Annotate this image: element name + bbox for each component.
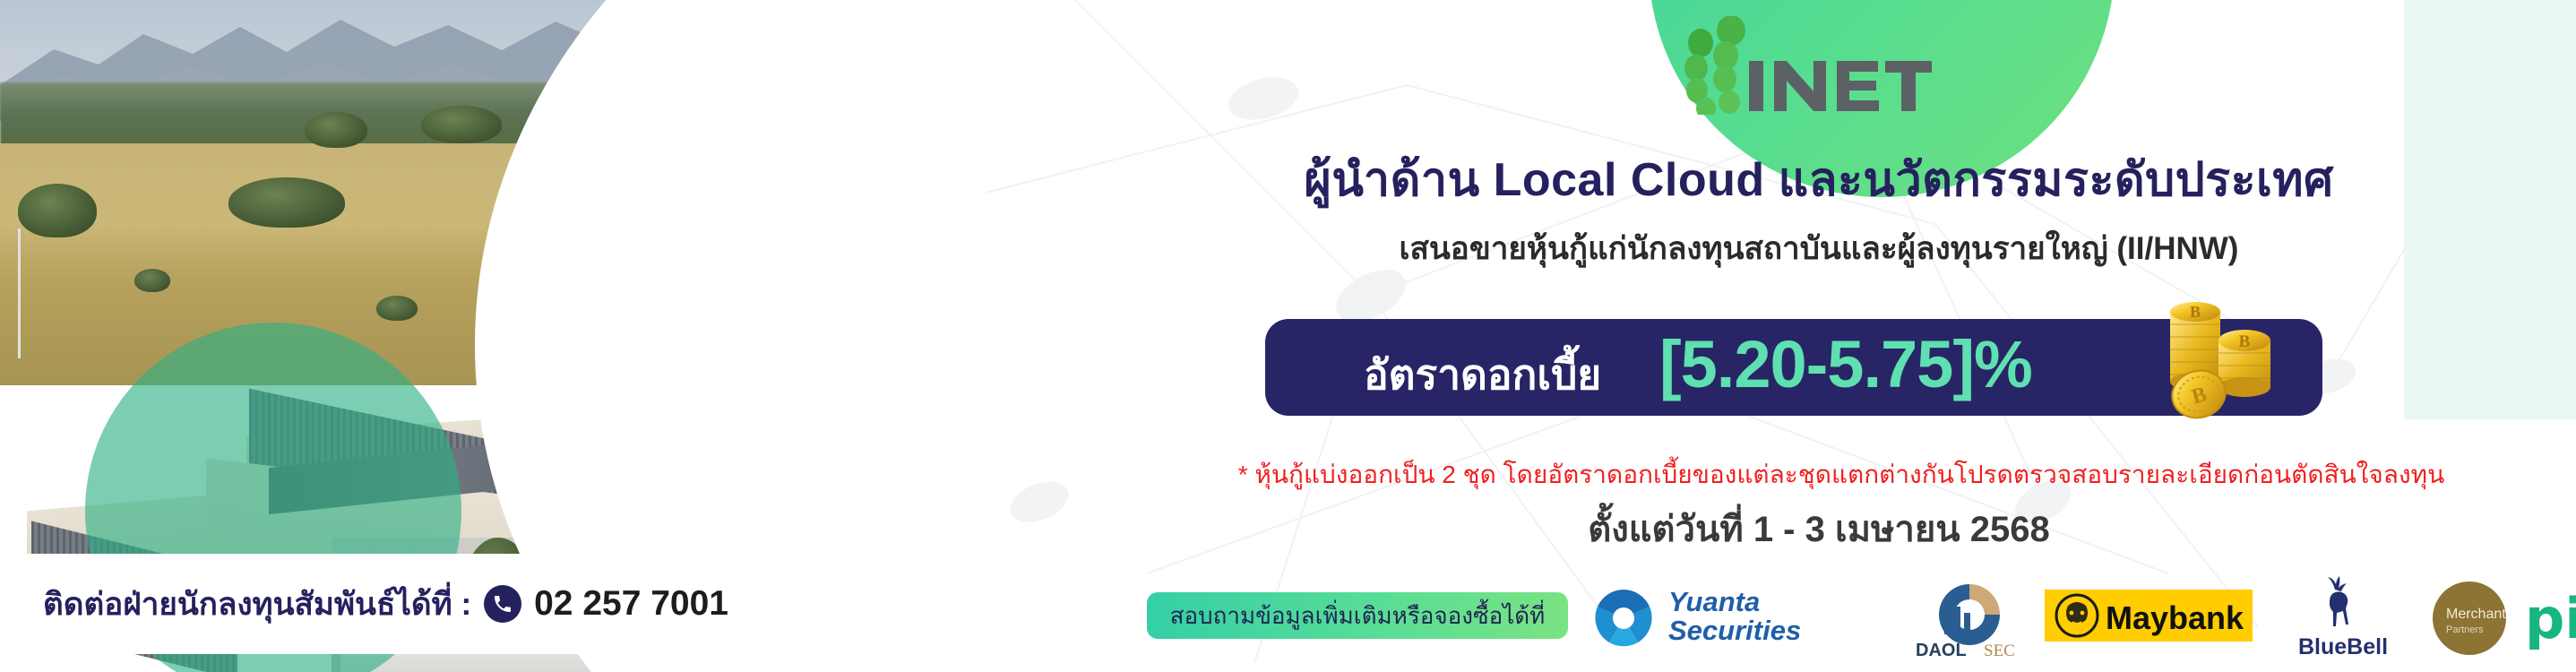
interest-rate-label: อัตราดอกเบี้ย	[1364, 342, 1601, 408]
inet-logo-dots-icon	[1684, 16, 1745, 115]
investor-relations-contact: ติดต่อฝ่ายนักลงทุนสัมพันธ์ได้ที่ : 02 25…	[0, 554, 833, 654]
pi-wordmark-icon: pi	[2520, 573, 2576, 663]
page-subtitle: เสนอขายหุ้นกู้แก่นักลงทุนสถาบันและผู้ลงท…	[1183, 224, 2455, 273]
yuanta-name-line1: Yuanta	[1668, 586, 1760, 617]
daol-circle-icon: DAOL SEC	[1889, 573, 2050, 663]
page-title: ผู้นำด้าน Local Cloud และนวัตกรรมระดับปร…	[1183, 142, 2455, 216]
partner-logo-maybank[interactable]: Maybank	[2045, 573, 2258, 663]
bluebell-deer-icon: BlueBell	[2276, 573, 2410, 663]
partner-logo-daol[interactable]: DAOL SEC	[1889, 573, 2050, 663]
disclaimer-note: * หุ้นกู้แบ่งออกเป็น 2 ชุด โดยอัตราดอกเบ…	[1111, 455, 2572, 495]
partner-logo-yuanta[interactable]: Yuanta Securities	[1586, 573, 1846, 663]
interest-rate-box: อัตราดอกเบี้ย [5.20-5.75]%	[1265, 319, 2322, 416]
inet-wordmark	[1749, 61, 1932, 111]
gold-coin-stack-icon: B B B	[2143, 299, 2300, 425]
phone-glyph	[492, 593, 513, 615]
svg-text:B: B	[2190, 303, 2201, 321]
tree	[421, 106, 502, 143]
partner-logo-strip: Yuanta Securities DAOL SEC	[1586, 573, 2563, 668]
pi-name: pi	[2525, 586, 2576, 651]
partner-logo-pi[interactable]: pi	[2520, 573, 2576, 663]
merchant-name-line1: Merchant	[2446, 607, 2506, 622]
svg-text:B: B	[2239, 332, 2251, 351]
yuanta-star-icon: Yuanta Securities	[1586, 573, 1846, 663]
offering-period: ตั้งแต่วันที่ 1 - 3 เมษายน 2568	[1183, 500, 2455, 557]
maybank-tiger-icon: Maybank	[2045, 573, 2258, 663]
contact-cta-button[interactable]: สอบถามข้อมูลเพิ่มเติมหรือจองซื้อได้ที่	[1147, 592, 1568, 639]
inet-logo-svg	[1667, 16, 1989, 115]
tree	[305, 112, 367, 148]
maybank-name: Maybank	[2106, 599, 2244, 636]
inet-logo	[1667, 16, 1989, 115]
promotional-banner: ผู้นำด้าน Local Cloud และนวัตกรรมระดับปร…	[0, 0, 2576, 672]
bluebell-name: BlueBell	[2298, 634, 2388, 659]
merchant-name-line2: Partners	[2446, 625, 2484, 635]
utility-pole	[18, 228, 21, 358]
interest-rate-value: [5.20-5.75]%	[1659, 326, 2032, 402]
tree	[376, 296, 418, 321]
tree	[134, 269, 170, 292]
contact-label: ติดต่อฝ่ายนักลงทุนสัมพันธ์ได้ที่ :	[43, 580, 471, 629]
yuanta-name-line2: Securities	[1668, 615, 1801, 646]
daol-name-line1: DAOL	[1916, 641, 1967, 660]
daol-name-line2: SEC	[1984, 642, 2015, 660]
partner-logo-bluebell[interactable]: BlueBell	[2276, 573, 2410, 663]
merchant-circle-icon: Merchant Partners	[2419, 573, 2527, 663]
tree	[228, 177, 345, 228]
contact-phone-number: 02 257 7001	[534, 584, 728, 624]
tree	[18, 184, 97, 237]
phone-icon	[484, 585, 521, 623]
partner-logo-merchant[interactable]: Merchant Partners	[2419, 573, 2527, 663]
